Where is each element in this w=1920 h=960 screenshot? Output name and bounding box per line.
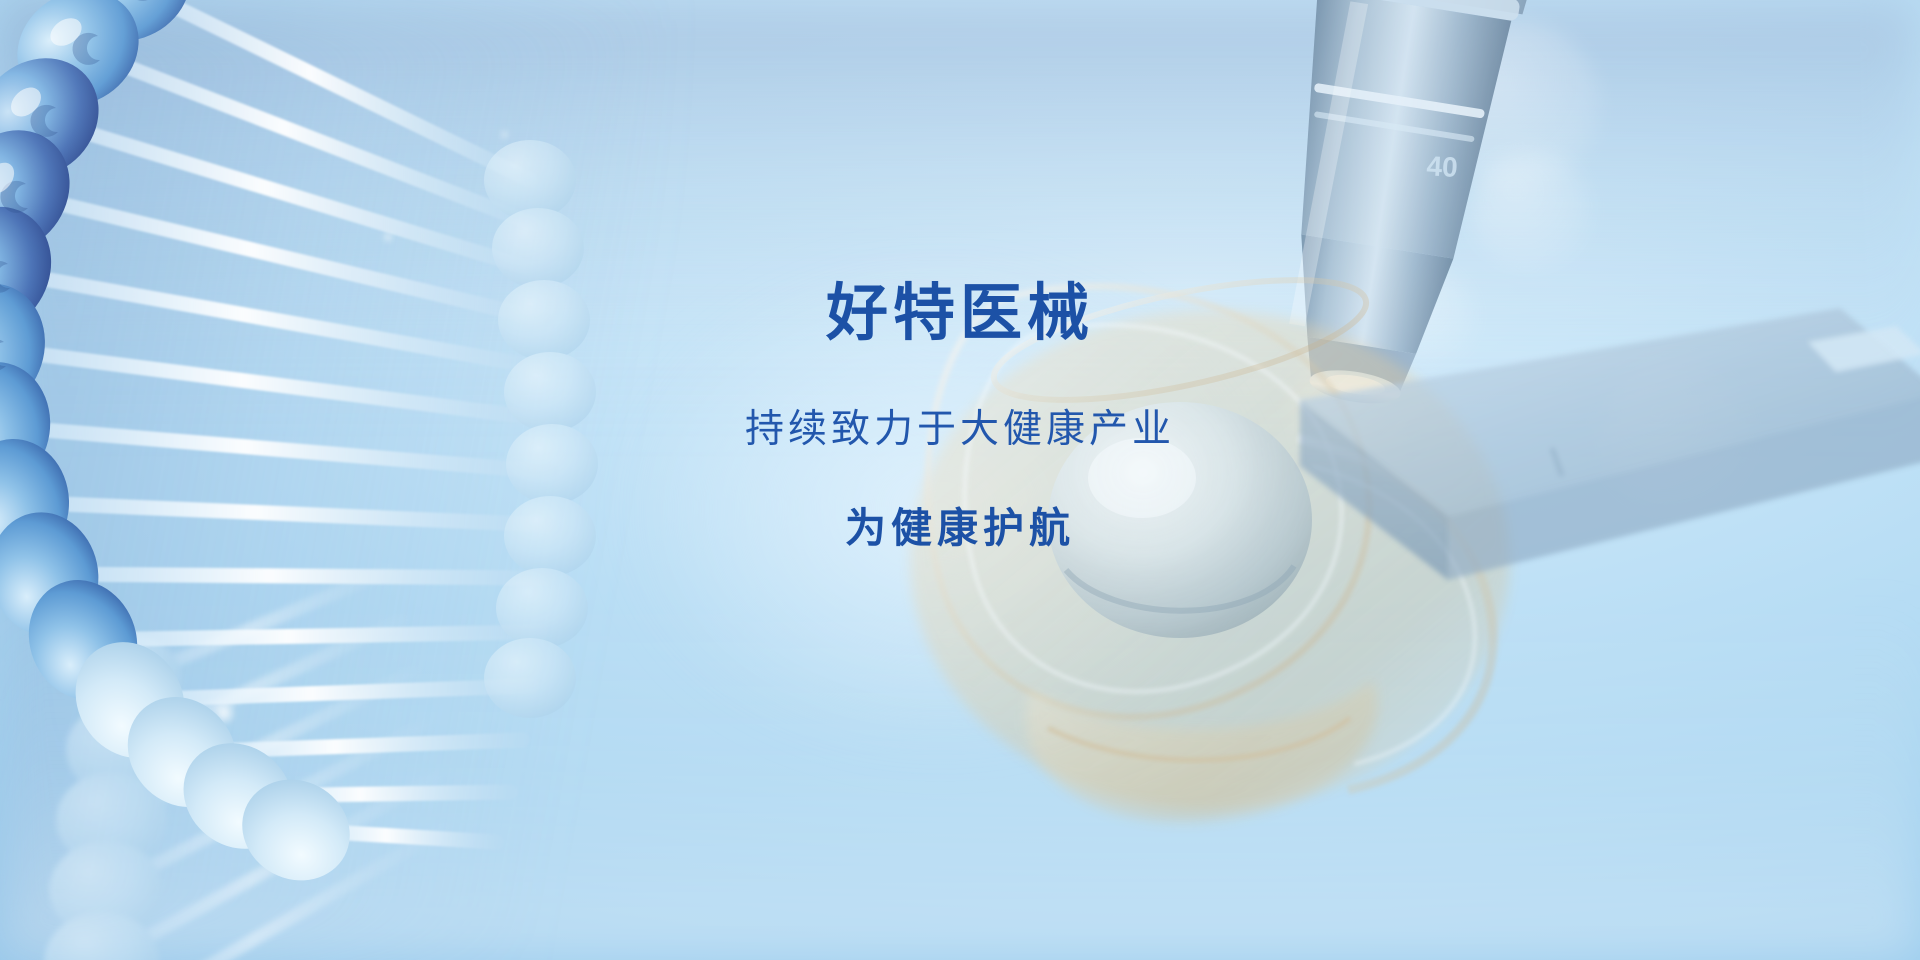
hero-text-block: 好特医械 持续致力于大健康产业 为健康护航 [0, 282, 1920, 550]
page-title: 好特医械 [0, 282, 1920, 346]
hero-banner: 40 [0, 0, 1920, 960]
svg-text:40: 40 [1426, 150, 1459, 183]
hero-tagline: 为健康护航 [0, 507, 1920, 550]
hero-subtitle: 持续致力于大健康产业 [0, 410, 1920, 451]
